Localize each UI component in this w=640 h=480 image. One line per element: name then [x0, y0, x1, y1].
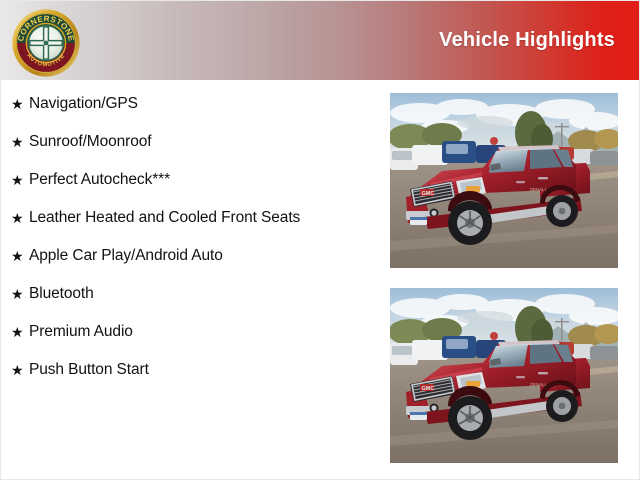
- star-bullet-icon: ★: [9, 284, 29, 304]
- vehicle-highlights-slide: CORNERSTONE AUTOMOTIVE Vehicle Highlight…: [0, 0, 640, 480]
- list-item-label: Bluetooth: [29, 284, 373, 304]
- list-item: ★ Bluetooth: [9, 284, 373, 306]
- cornerstone-automotive-logo-icon: CORNERSTONE AUTOMOTIVE: [11, 8, 81, 78]
- svg-text:DENALI: DENALI: [530, 187, 546, 192]
- star-bullet-icon: ★: [9, 132, 29, 152]
- list-item-label: Perfect Autocheck***: [29, 170, 373, 190]
- star-bullet-icon: ★: [9, 246, 29, 266]
- svg-text:GMC: GMC: [422, 386, 435, 392]
- list-item-label: Premium Audio: [29, 322, 373, 342]
- list-item-label: Navigation/GPS: [29, 94, 373, 114]
- slide-header: CORNERSTONE AUTOMOTIVE Vehicle Highlight…: [1, 1, 640, 80]
- list-item: ★ Perfect Autocheck***: [9, 170, 373, 192]
- list-item: ★ Leather Heated and Cooled Front Seats: [9, 208, 373, 230]
- vehicle-features-list: ★ Navigation/GPS ★ Sunroof/Moonroof ★ Pe…: [1, 80, 381, 480]
- list-item: ★ Push Button Start: [9, 360, 373, 382]
- vehicle-photo-front-quarter-1[interactable]: GMC: [390, 93, 618, 268]
- star-bullet-icon: ★: [9, 94, 29, 114]
- list-item-label: Leather Heated and Cooled Front Seats: [29, 208, 373, 228]
- list-item-label: Push Button Start: [29, 360, 373, 380]
- svg-text:DENALI: DENALI: [530, 382, 546, 387]
- list-item: ★ Apple Car Play/Android Auto: [9, 246, 373, 268]
- page-title: Vehicle Highlights: [439, 29, 615, 52]
- svg-text:GMC: GMC: [422, 191, 435, 197]
- star-bullet-icon: ★: [9, 360, 29, 380]
- vehicle-photo-front-quarter-2[interactable]: GMC: [390, 288, 618, 463]
- star-bullet-icon: ★: [9, 208, 29, 228]
- list-item: ★ Premium Audio: [9, 322, 373, 344]
- list-item-label: Apple Car Play/Android Auto: [29, 246, 373, 266]
- star-bullet-icon: ★: [9, 170, 29, 190]
- list-item: ★ Sunroof/Moonroof: [9, 132, 373, 154]
- list-item-label: Sunroof/Moonroof: [29, 132, 373, 152]
- star-bullet-icon: ★: [9, 322, 29, 342]
- list-item: ★ Navigation/GPS: [9, 94, 373, 116]
